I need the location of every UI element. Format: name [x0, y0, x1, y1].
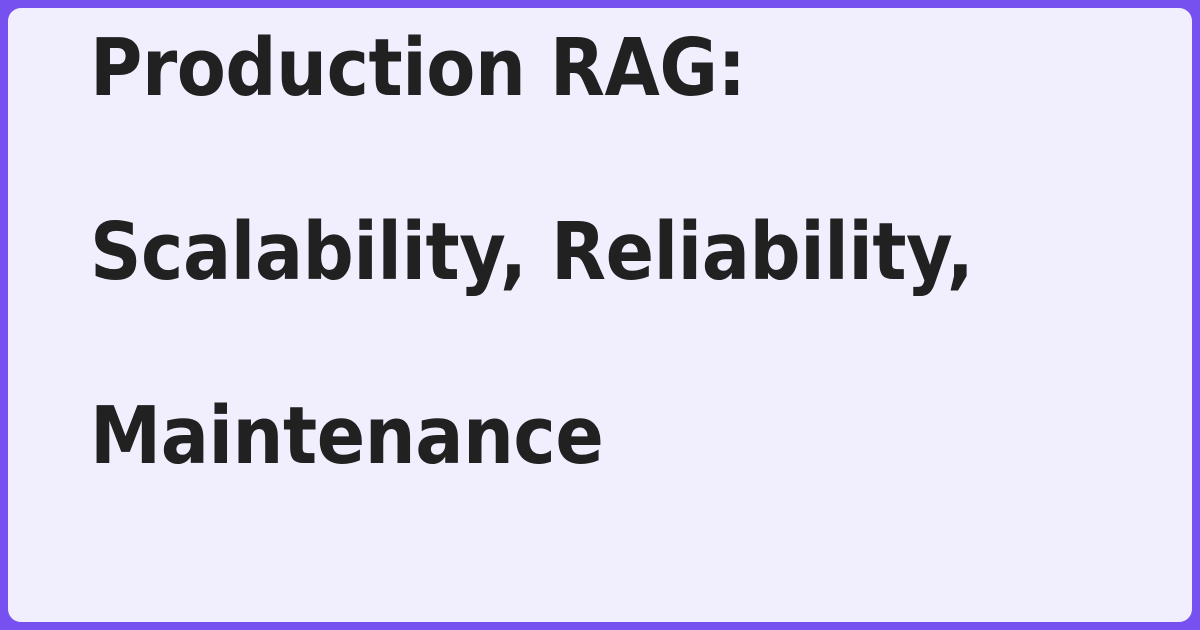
page-title-line-2: Scalability, Reliability, [90, 206, 1033, 298]
page-title: Production RAG: Scalability, Reliability… [90, 8, 1033, 574]
og-card: Production RAG: Scalability, Reliability… [0, 0, 1200, 630]
card-surface: Production RAG: Scalability, Reliability… [8, 8, 1192, 622]
card-content: Production RAG: Scalability, Reliability… [90, 8, 1132, 622]
page-title-line-3: Maintenance [90, 390, 1033, 482]
page-title-line-1: Production RAG: [90, 22, 1033, 114]
